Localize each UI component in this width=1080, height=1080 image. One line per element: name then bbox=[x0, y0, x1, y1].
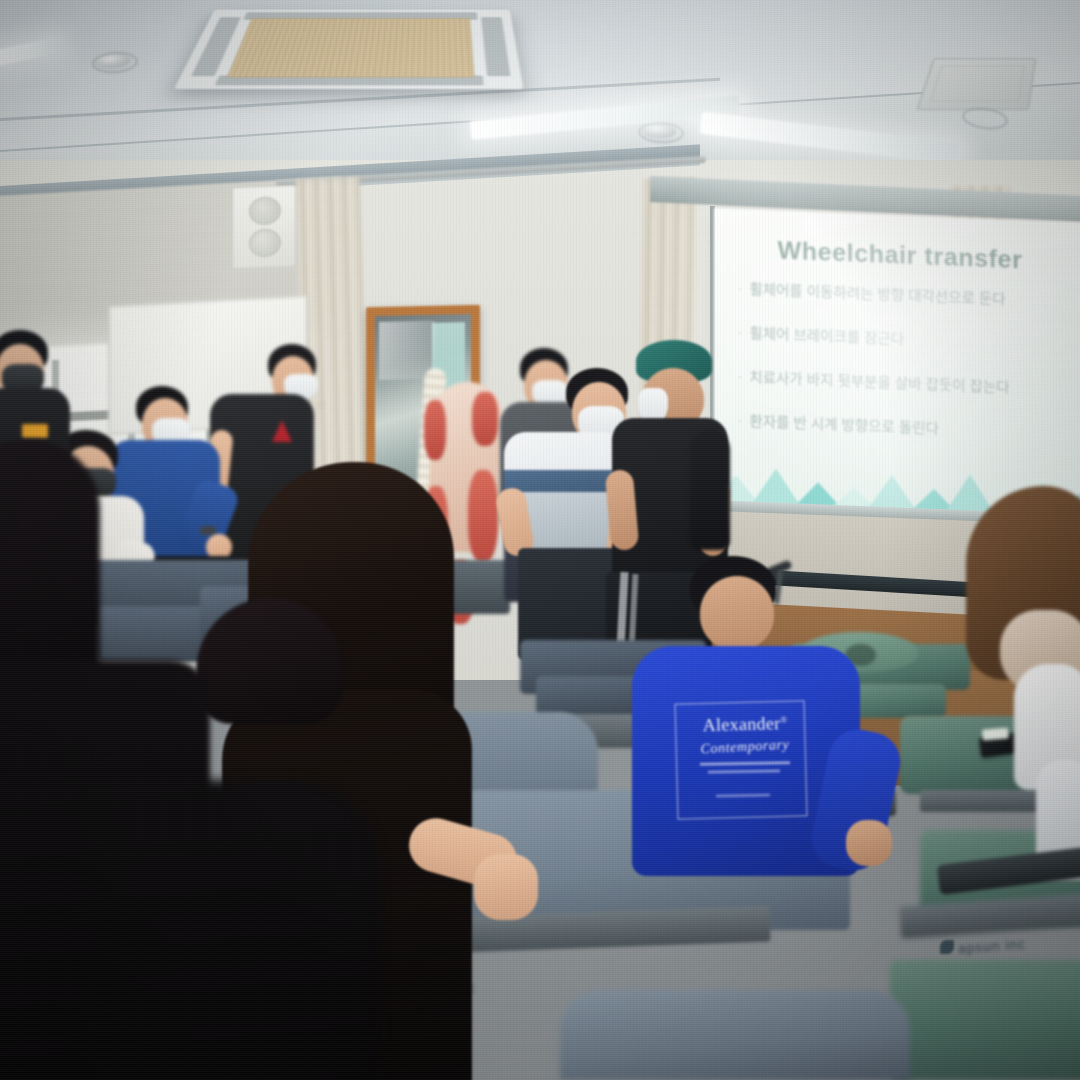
table-brand-label-right: apsun inc bbox=[958, 938, 1027, 958]
bullet-text: 치료사가 바지 뒷부분을 살바 잡듯이 잡는다 bbox=[749, 370, 1009, 399]
bullet-text: 휠체어를 이동하려는 방향 대각선으로 둔다 bbox=[749, 281, 1005, 309]
apsun-logo-icon bbox=[940, 940, 954, 954]
list-item: · 휠체어 브레이크를 잠근다 bbox=[738, 325, 1076, 357]
bullet-marker: · bbox=[738, 413, 742, 430]
anatomy-muscle-3 bbox=[468, 470, 498, 562]
projector-screen[interactable]: Wheelchair transfer · 휠체어를 이동하려는 방향 대각선으… bbox=[714, 208, 1080, 523]
shirt-brand-text: Alexander bbox=[702, 713, 780, 735]
ac-filter-grille bbox=[227, 18, 475, 77]
list-item: · 치료사가 바지 뒷부분을 살바 잡듯이 잡는다 bbox=[738, 369, 1076, 401]
treatment-table-slate-front-3 bbox=[560, 990, 910, 1080]
bullet-marker: · bbox=[738, 281, 742, 298]
bullet-text: 휠체어 브레이크를 잠근다 bbox=[749, 326, 904, 350]
anatomy-muscle-1 bbox=[424, 400, 446, 460]
bullet-marker: · bbox=[738, 325, 742, 342]
ac-vent-right bbox=[481, 17, 510, 76]
slide-bullet-list: · 휠체어를 이동하려는 방향 대각선으로 둔다 · 휠체어 브레이크를 잠근다… bbox=[738, 281, 1076, 471]
bullet-text: 환자를 반 시계 방향으로 돌린다 bbox=[749, 414, 939, 440]
foreground-dark-mass bbox=[0, 780, 380, 1080]
classroom-photo: Wheelchair transfer · 휠체어를 이동하려는 방향 대각선으… bbox=[0, 0, 1080, 1080]
shirt-registered-mark: ® bbox=[780, 715, 787, 725]
wall-speaker-icon bbox=[232, 185, 296, 269]
anatomy-muscle-2 bbox=[472, 392, 498, 446]
speaker-cone-bottom bbox=[249, 228, 281, 257]
ceiling-ac-cassette-icon bbox=[174, 10, 523, 89]
treatment-table-green-4 bbox=[890, 960, 1080, 1080]
list-item: · 휠체어를 이동하려는 방향 대각선으로 둔다 bbox=[738, 281, 1076, 313]
ceiling-vent-icon bbox=[916, 58, 1037, 110]
slide-title: Wheelchair transfer bbox=[714, 234, 1080, 278]
speaker-cone-top bbox=[249, 196, 281, 225]
list-item: · 환자를 반 시계 방향으로 돌린다 bbox=[738, 413, 1076, 445]
bullet-marker: · bbox=[738, 369, 742, 386]
